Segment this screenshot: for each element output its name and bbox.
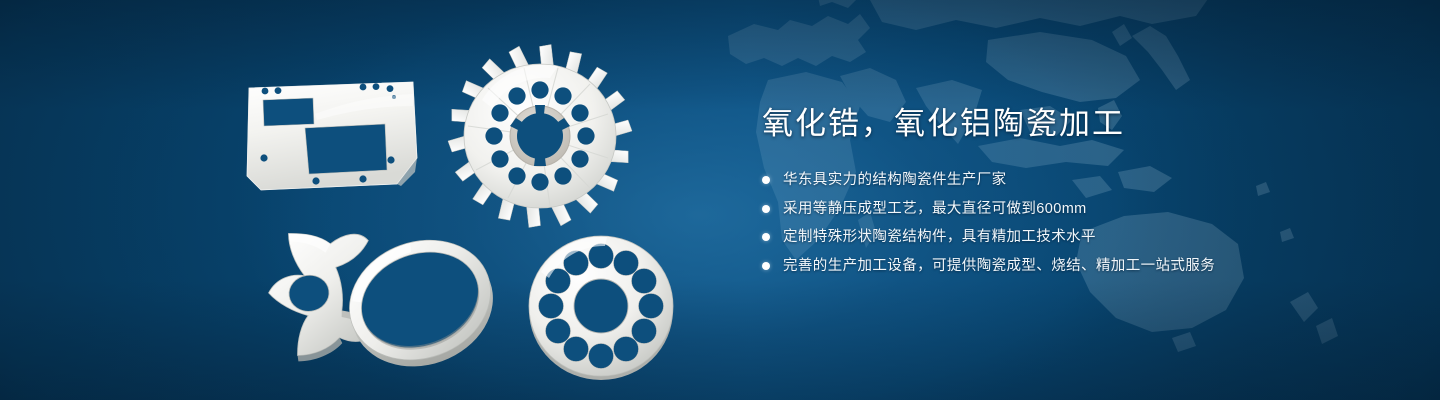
banner-copy: 氧化锆，氧化铝陶瓷加工 华东具实力的结构陶瓷件生产厂家 采用等静压成型工艺，最大… [762,104,1362,284]
ceramic-base-plate [245,80,420,195]
ceramic-hole-disc [515,228,687,386]
bullet-dot-icon [762,262,770,270]
list-item: 完善的生产加工设备，可提供陶瓷成型、烧结、精加工一站式服务 [762,256,1362,276]
feature-text: 完善的生产加工设备，可提供陶瓷成型、烧结、精加工一站式服务 [783,256,1215,276]
feature-text: 采用等静压成型工艺，最大直径可做到600mm [783,199,1087,219]
bullet-dot-icon [762,205,770,213]
feature-text: 华东具实力的结构陶瓷件生产厂家 [783,170,1007,190]
list-item: 华东具实力的结构陶瓷件生产厂家 [762,170,1362,190]
ceramic-ring [335,228,505,373]
feature-list: 华东具实力的结构陶瓷件生产厂家 采用等静压成型工艺，最大直径可做到600mm 定… [762,170,1362,276]
page-title: 氧化锆，氧化铝陶瓷加工 [762,104,1362,144]
product-banner: 氧化锆，氧化铝陶瓷加工 华东具实力的结构陶瓷件生产厂家 采用等静压成型工艺，最大… [0,0,1440,400]
list-item: 定制特殊形状陶瓷结构件，具有精加工技术水平 [762,227,1362,247]
product-image-group [225,30,725,380]
list-item: 采用等静压成型工艺，最大直径可做到600mm [762,199,1362,219]
feature-text: 定制特殊形状陶瓷结构件，具有精加工技术水平 [783,227,1096,247]
bullet-dot-icon [762,233,770,241]
bullet-dot-icon [762,176,770,184]
ceramic-impeller-disc [447,50,633,220]
